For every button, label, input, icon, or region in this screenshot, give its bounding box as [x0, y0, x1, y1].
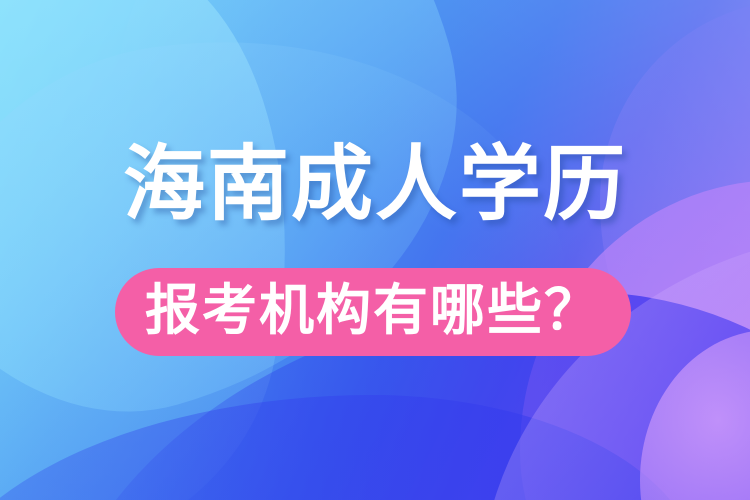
banner-subtitle-pill: 报考机构有哪些？: [115, 268, 631, 356]
banner-headline: 海南成人学历: [0, 144, 750, 226]
promo-banner: 海南成人学历 报考机构有哪些？: [0, 0, 750, 500]
banner-subtitle-text: 报考机构有哪些？: [145, 283, 601, 342]
banner-content: 海南成人学历 报考机构有哪些？: [0, 0, 750, 500]
